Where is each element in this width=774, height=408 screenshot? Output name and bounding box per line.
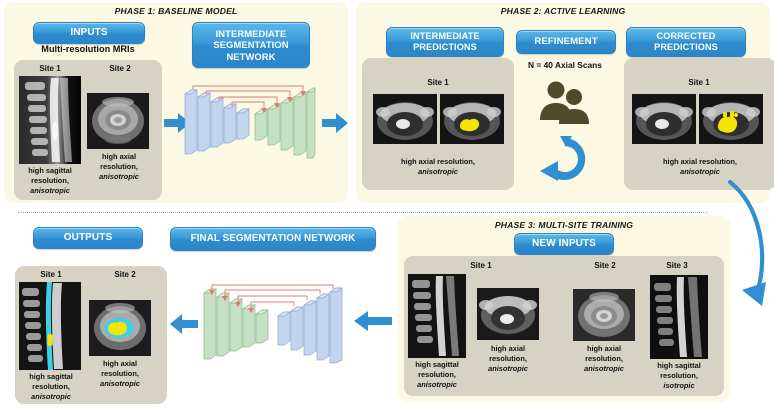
scan-count-label: N = 40 Axial Scans	[515, 60, 615, 70]
phase3-site2-caption: high axial resolution, anisotropic	[573, 344, 635, 373]
corrected-axial-mri-raw	[632, 94, 696, 144]
corrected-caption-l1: high axial resolution,	[624, 157, 774, 167]
outputs-site1-sagittal-segmented-mri	[19, 282, 81, 370]
corrected-caption-l2: anisotropic	[680, 167, 720, 176]
intermediate-card-caption: high axial resolution, anisotropic	[362, 157, 514, 177]
phase1-site1-caption-l3: anisotropic	[30, 186, 70, 195]
outputs-site2-cap-l3: anisotropic	[100, 379, 140, 388]
outputs-site2-axial-segmented-mri	[89, 300, 151, 356]
intermediate-site-label: Site 1	[362, 78, 514, 87]
section-divider	[18, 212, 708, 213]
outputs-site2-cap-l1: high axial	[89, 359, 151, 369]
corrected-predictions-button[interactable]: CORRECTED PREDICTIONS	[626, 27, 746, 57]
phase3-site2-cap-l2: resolution,	[573, 354, 635, 364]
intermediate-axial-mri-raw	[373, 94, 437, 144]
phase3-site1-sag-cap-l1: high sagittal	[404, 360, 470, 370]
phase3-site2-cap-l1: high axial	[573, 344, 635, 354]
outputs-site1-cap-l2: resolution,	[12, 382, 90, 392]
phase1-site2-caption-l1: high axial	[88, 152, 150, 162]
intermediate-predictions-button[interactable]: INTERMEDIATE PREDICTIONS	[386, 27, 504, 57]
phase3-site1-sag-cap-l2: resolution,	[404, 370, 470, 380]
arrow-phase1-to-phase2	[322, 113, 348, 133]
phase3-site3-caption: high sagittal resolution, isotropic	[646, 361, 712, 390]
outputs-site1-label: Site 1	[20, 270, 82, 279]
final-segmentation-network-button[interactable]: FINAL SEGMENTATION NETWORK	[170, 227, 376, 251]
phase1-subtitle: Multi-resolution MRIs	[18, 44, 158, 54]
phase1-site2-caption-l2: resolution,	[88, 162, 150, 172]
inputs-button[interactable]: INPUTS	[33, 22, 145, 44]
phase1-site1-sagittal-mri	[19, 76, 81, 164]
phase3-site1-sagittal-mri	[408, 274, 466, 358]
corrected-site-label: Site 1	[624, 78, 774, 87]
phase3-site2-cap-l3: anisotropic	[584, 364, 624, 373]
phase1-title: PHASE 1: BASELINE MODEL	[4, 6, 348, 16]
phase3-site1-axial-mri	[477, 288, 539, 340]
outputs-site2-cap-l2: resolution,	[89, 369, 151, 379]
phase1-site1-caption: high sagittal resolution, anisotropic	[10, 166, 90, 195]
intermediate-caption-l2: anisotropic	[418, 167, 458, 176]
phase2-title: PHASE 2: ACTIVE LEARNING	[356, 6, 770, 16]
figure-root: PHASE 1: BASELINE MODEL INPUTS Multi-res…	[0, 0, 774, 408]
refresh-loop-icon	[538, 133, 592, 185]
phase3-site2-label: Site 2	[575, 261, 635, 270]
outputs-site2-caption: high axial resolution, anisotropic	[89, 359, 151, 388]
phase3-site1-sag-cap-l3: anisotropic	[417, 380, 457, 389]
phase1-site2-caption: high axial resolution, anisotropic	[88, 152, 150, 181]
phase1-site2-caption-l3: anisotropic	[99, 172, 139, 181]
phase3-site1-ax-cap-l1: high axial	[477, 344, 539, 354]
refinement-button[interactable]: REFINEMENT	[516, 30, 616, 54]
intermediate-axial-mri-predicted	[440, 94, 504, 144]
phase1-site1-label: Site 1	[20, 64, 80, 73]
phase3-site1-sag-caption: high sagittal resolution, anisotropic	[404, 360, 470, 389]
phase1-site1-caption-l1: high sagittal	[10, 166, 90, 176]
phase3-site1-ax-cap-l3: anisotropic	[488, 364, 528, 373]
phase3-site3-cap-l3: isotropic	[663, 381, 694, 390]
new-inputs-button[interactable]: NEW INPUTS	[514, 233, 614, 255]
outputs-site2-label: Site 2	[94, 270, 156, 279]
corrected-card-caption: high axial resolution, anisotropic	[624, 157, 774, 177]
phase3-site3-label: Site 3	[647, 261, 707, 270]
final-segmentation-unet	[202, 283, 348, 363]
intermediate-segmentation-network-button[interactable]: INTERMEDIATE SEGMENTATION NETWORK	[192, 22, 310, 68]
phase1-site2-label: Site 2	[90, 64, 150, 73]
corrected-axial-mri-predicted	[699, 94, 763, 144]
arrow-final-network-to-outputs	[170, 313, 198, 335]
intermediate-segmentation-unet	[183, 84, 315, 160]
phase3-site3-cap-l2: resolution,	[646, 371, 712, 381]
phase1-site1-caption-l2: resolution,	[10, 176, 90, 186]
phase3-site3-cap-l1: high sagittal	[646, 361, 712, 371]
phase3-site1-ax-caption: high axial resolution, anisotropic	[477, 344, 539, 373]
intermediate-caption-l1: high axial resolution,	[362, 157, 514, 167]
outputs-site1-caption: high sagittal resolution, anisotropic	[12, 372, 90, 401]
phase1-site2-axial-mri	[87, 93, 149, 149]
phase3-site3-sagittal-mri	[650, 275, 708, 359]
outputs-site1-cap-l1: high sagittal	[12, 372, 90, 382]
people-icon	[536, 80, 594, 124]
outputs-button[interactable]: OUTPUTS	[33, 227, 143, 249]
phase3-site2-axial-mri	[573, 289, 635, 341]
outputs-site1-cap-l3: anisotropic	[31, 392, 71, 401]
phase3-title: PHASE 3: MULTI-SITE TRAINING	[398, 220, 730, 230]
phase3-site1-ax-cap-l2: resolution,	[477, 354, 539, 364]
phase3-site1-label: Site 1	[451, 261, 511, 270]
arrow-phase3-to-final-network	[354, 310, 392, 332]
